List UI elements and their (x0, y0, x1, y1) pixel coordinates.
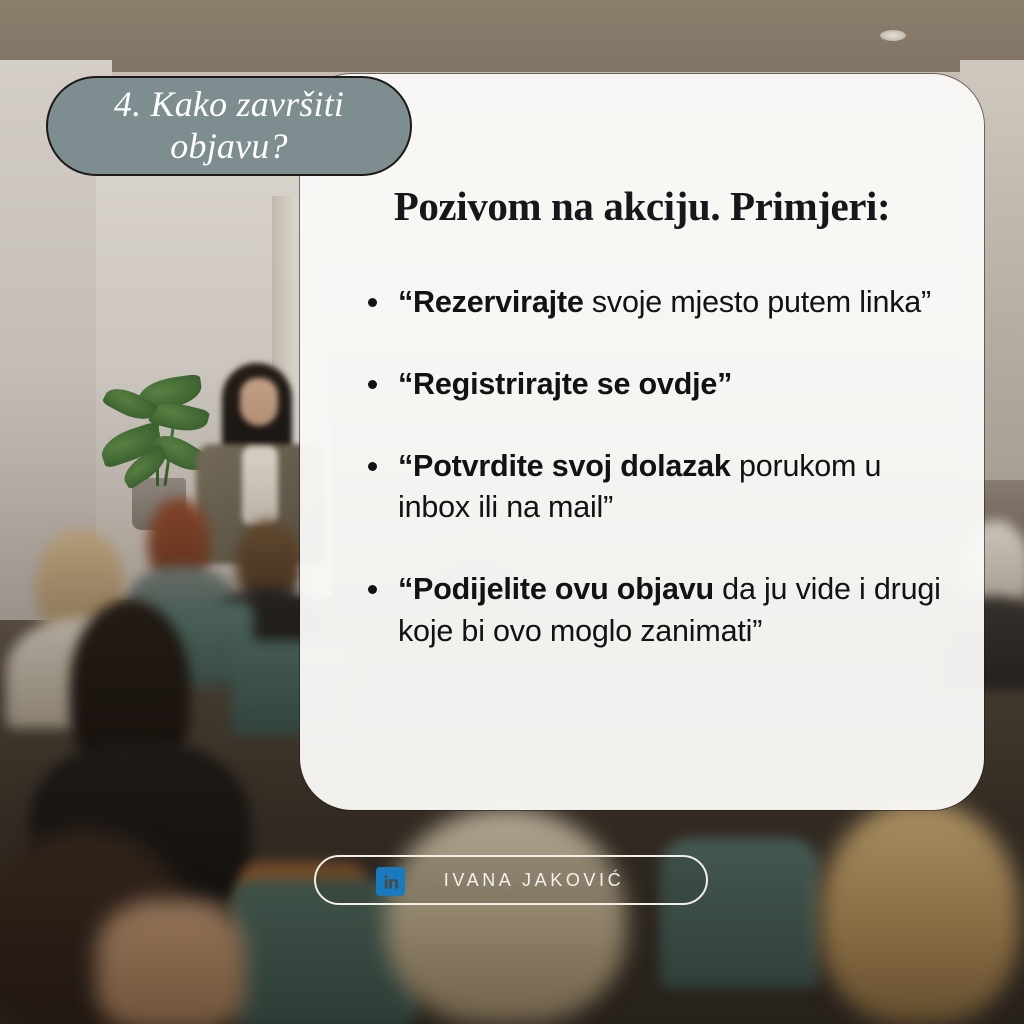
list-item: “Rezervirajte svoje mjesto putem linka” (398, 282, 956, 324)
linkedin-icon[interactable] (376, 867, 405, 896)
audience-head-foreground (820, 800, 1020, 1024)
list-item-bold-text: “Podijelite ovu objavu (398, 572, 714, 606)
audience-head-foreground (386, 808, 626, 1024)
author-badge[interactable]: IVANA JAKOVIĆ (314, 855, 708, 905)
content-card: Pozivom na akciju. Primjeri: “Rezerviraj… (300, 74, 984, 810)
list-item: “Registrirajte se ovdje” (398, 364, 956, 406)
ceiling-light-icon (880, 30, 906, 41)
section-title-badge: 4. Kako završiti objavu? (46, 76, 412, 176)
card-title: Pozivom na akciju. Primjeri: (300, 182, 984, 230)
audience-face-foreground (96, 900, 246, 1024)
list-item: “Podijelite ovu objavu da ju vide i drug… (398, 569, 956, 653)
list-item-rest-text: svoje mjesto putem linka” (584, 285, 931, 319)
section-title-text: 4. Kako završiti objavu? (70, 84, 388, 168)
slide-canvas: Pozivom na akciju. Primjeri: “Rezerviraj… (0, 0, 1024, 1024)
list-item-bold-text: “Potvrdite svoj dolazak (398, 449, 731, 483)
author-name: IVANA JAKOVIĆ (368, 870, 706, 891)
ceiling (0, 0, 1024, 72)
call-to-action-list: “Rezervirajte svoje mjesto putem linka” … (356, 282, 956, 693)
list-item-bold-text: “Registrirajte se ovdje” (398, 367, 732, 401)
list-item: “Potvrdite svoj dolazak porukom u inbox … (398, 446, 956, 530)
speaker-face (240, 378, 278, 426)
speaker-shirt (242, 446, 278, 526)
list-item-bold-text: “Rezervirajte (398, 285, 584, 319)
